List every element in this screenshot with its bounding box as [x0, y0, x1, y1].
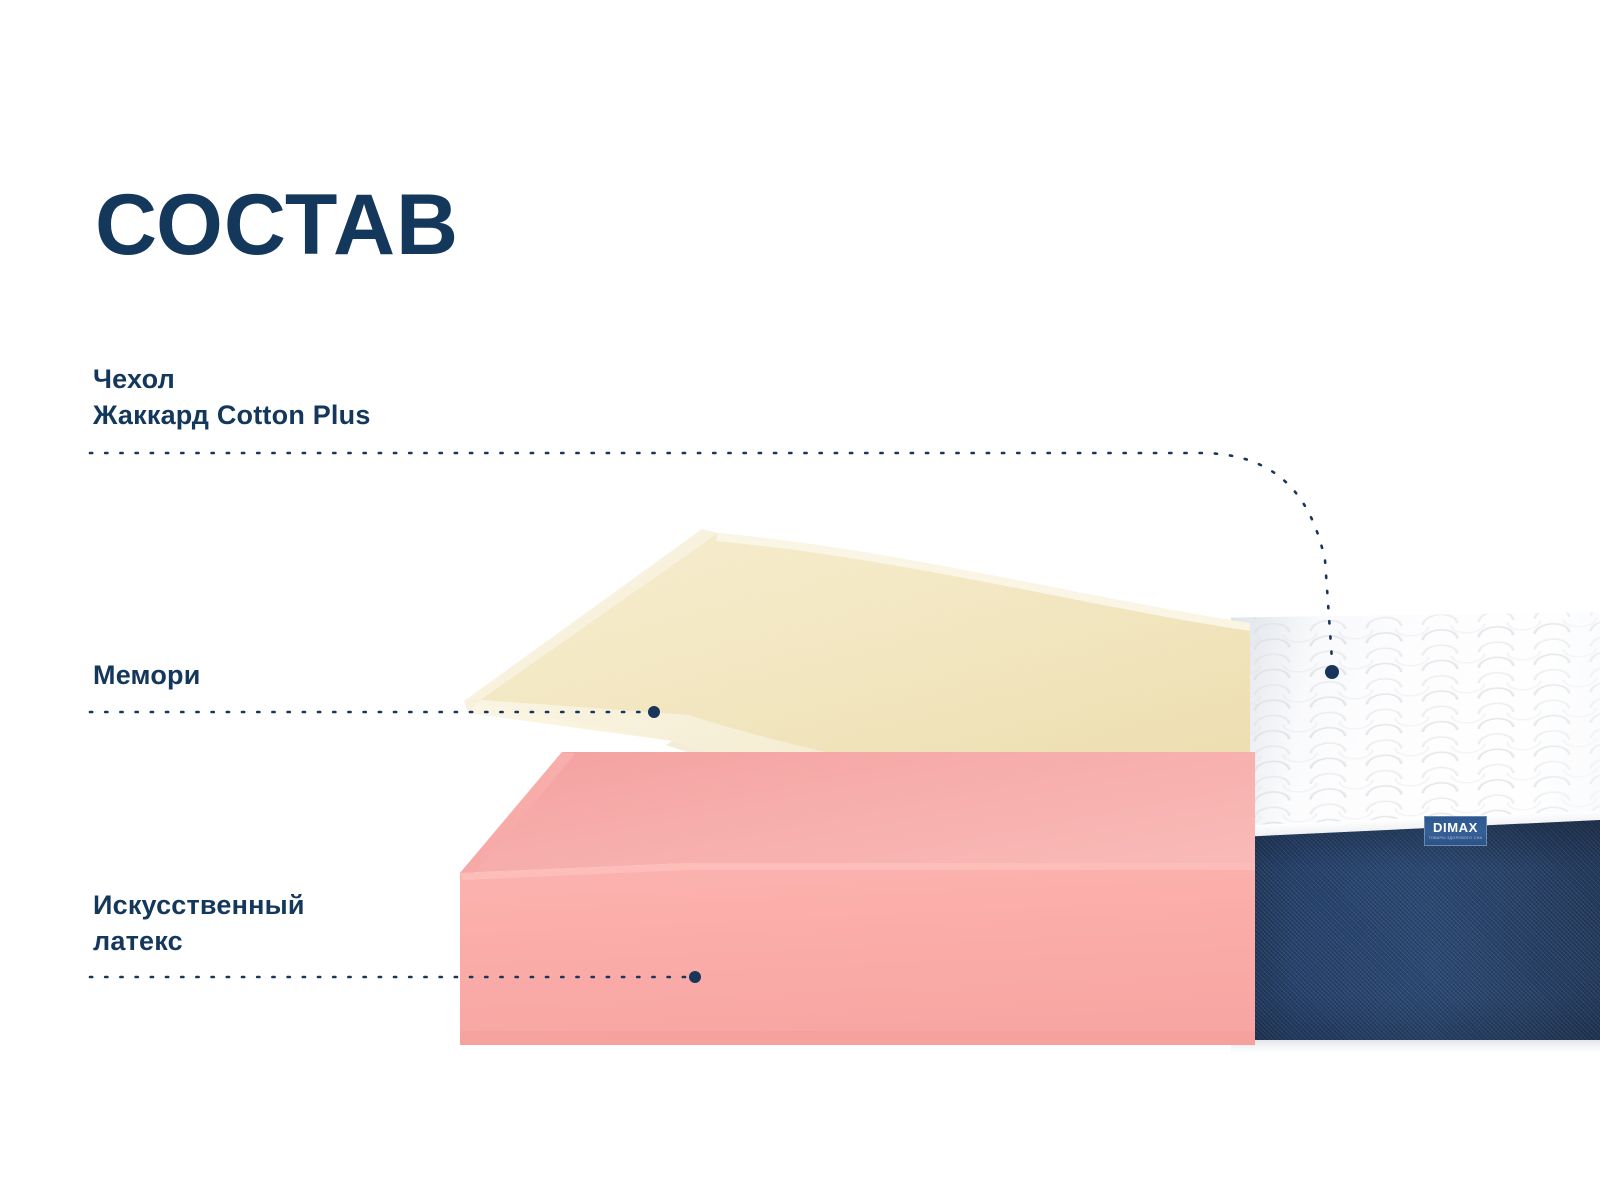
latex-foam-layer: [455, 745, 1255, 1055]
latex-top-face: [460, 752, 1255, 873]
cover-bottom-edge: [1231, 1040, 1600, 1053]
layer-label-cover: Чехол Жаккард Cotton Plus: [93, 362, 371, 434]
cover-sheen: [1228, 612, 1600, 837]
layer-label-latex-line1: Искусственный: [93, 888, 305, 924]
layer-label-memory: Мемори: [93, 658, 201, 694]
brand-tag-name: DIMAX: [1433, 821, 1478, 834]
side-band-shading: [1229, 820, 1600, 1044]
latex-front-face: [460, 863, 1255, 1045]
layer-label-latex: Искусственный латекс: [93, 888, 305, 960]
cover-side-band: [1229, 820, 1600, 1044]
layer-label-memory-line1: Мемори: [93, 658, 201, 694]
layer-label-cover-line1: Чехол: [93, 362, 371, 398]
cover-top-surface: [1228, 612, 1600, 837]
layer-label-cover-line2: Жаккард Cotton Plus: [93, 398, 371, 434]
brand-tag-subtext: ТОВАРЫ ЗДОРОВОГО СНА: [1429, 837, 1483, 841]
composition-infographic: СОСТАВ DIMAX ТОВАРЫ ЗДОРОВОГО СНА: [0, 0, 1600, 1201]
brand-tag: DIMAX ТОВАРЫ ЗДОРОВОГО СНА: [1424, 816, 1487, 846]
layer-label-latex-line2: латекс: [93, 924, 305, 960]
mattress-cutaway-illustration: DIMAX ТОВАРЫ ЗДОРОВОГО СНА: [0, 0, 1600, 1201]
latex-bottom-shade: [460, 1031, 1255, 1045]
